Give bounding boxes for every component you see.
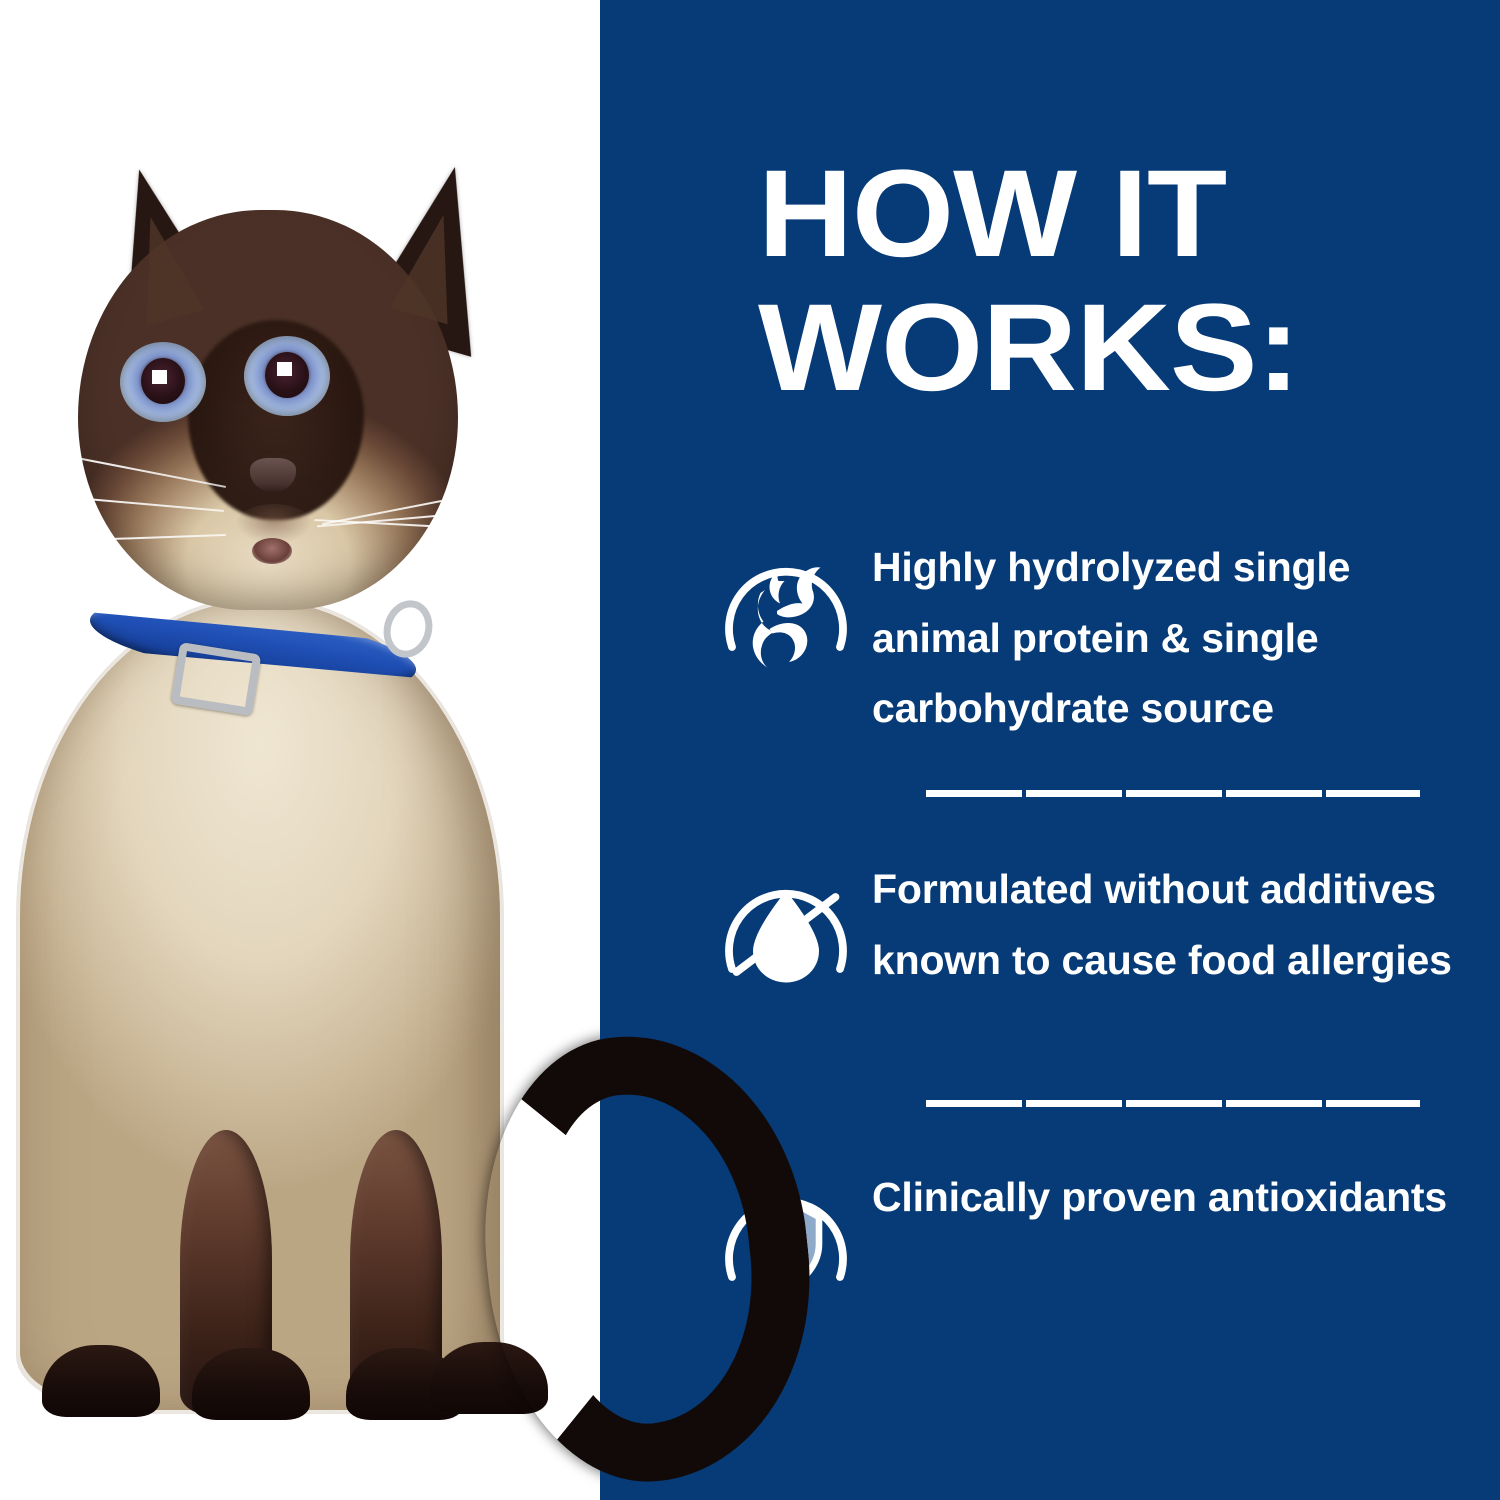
feature-row-hydrolyzed-protein: Highly hydrolyzed single animal protein …: [706, 530, 1466, 744]
page-title: HOW IT WORKS:: [758, 148, 1500, 416]
info-panel: HOW IT WORKS: Highly hydrolyzed single a…: [600, 0, 1500, 1500]
feature-text: Formulated without additives known to ca…: [866, 852, 1466, 995]
collar-buckle-icon: [171, 642, 262, 716]
cat-chin: [252, 538, 292, 564]
feature-divider: [926, 1100, 1420, 1107]
feature-divider: [926, 790, 1420, 797]
siamese-cat-photo: [0, 130, 700, 1420]
feature-text: Highly hydrolyzed single animal protein …: [866, 530, 1466, 744]
cat-eye-glint: [277, 362, 292, 376]
cat-photo-panel: [0, 0, 600, 1500]
feature-row-no-additives: Formulated without additives known to ca…: [706, 852, 1466, 1008]
shield-antioxidant-icon: [706, 1160, 866, 1316]
feature-row-antioxidants: Clinically proven antioxidants: [706, 1160, 1466, 1316]
feature-text: Clinically proven antioxidants: [866, 1160, 1466, 1233]
dna-helix-icon: [706, 530, 866, 686]
product-feature-card: HOW IT WORKS: Highly hydrolyzed single a…: [0, 0, 1500, 1500]
cat-eye-glint: [152, 370, 167, 384]
no-additives-droplet-icon: [706, 852, 866, 1008]
